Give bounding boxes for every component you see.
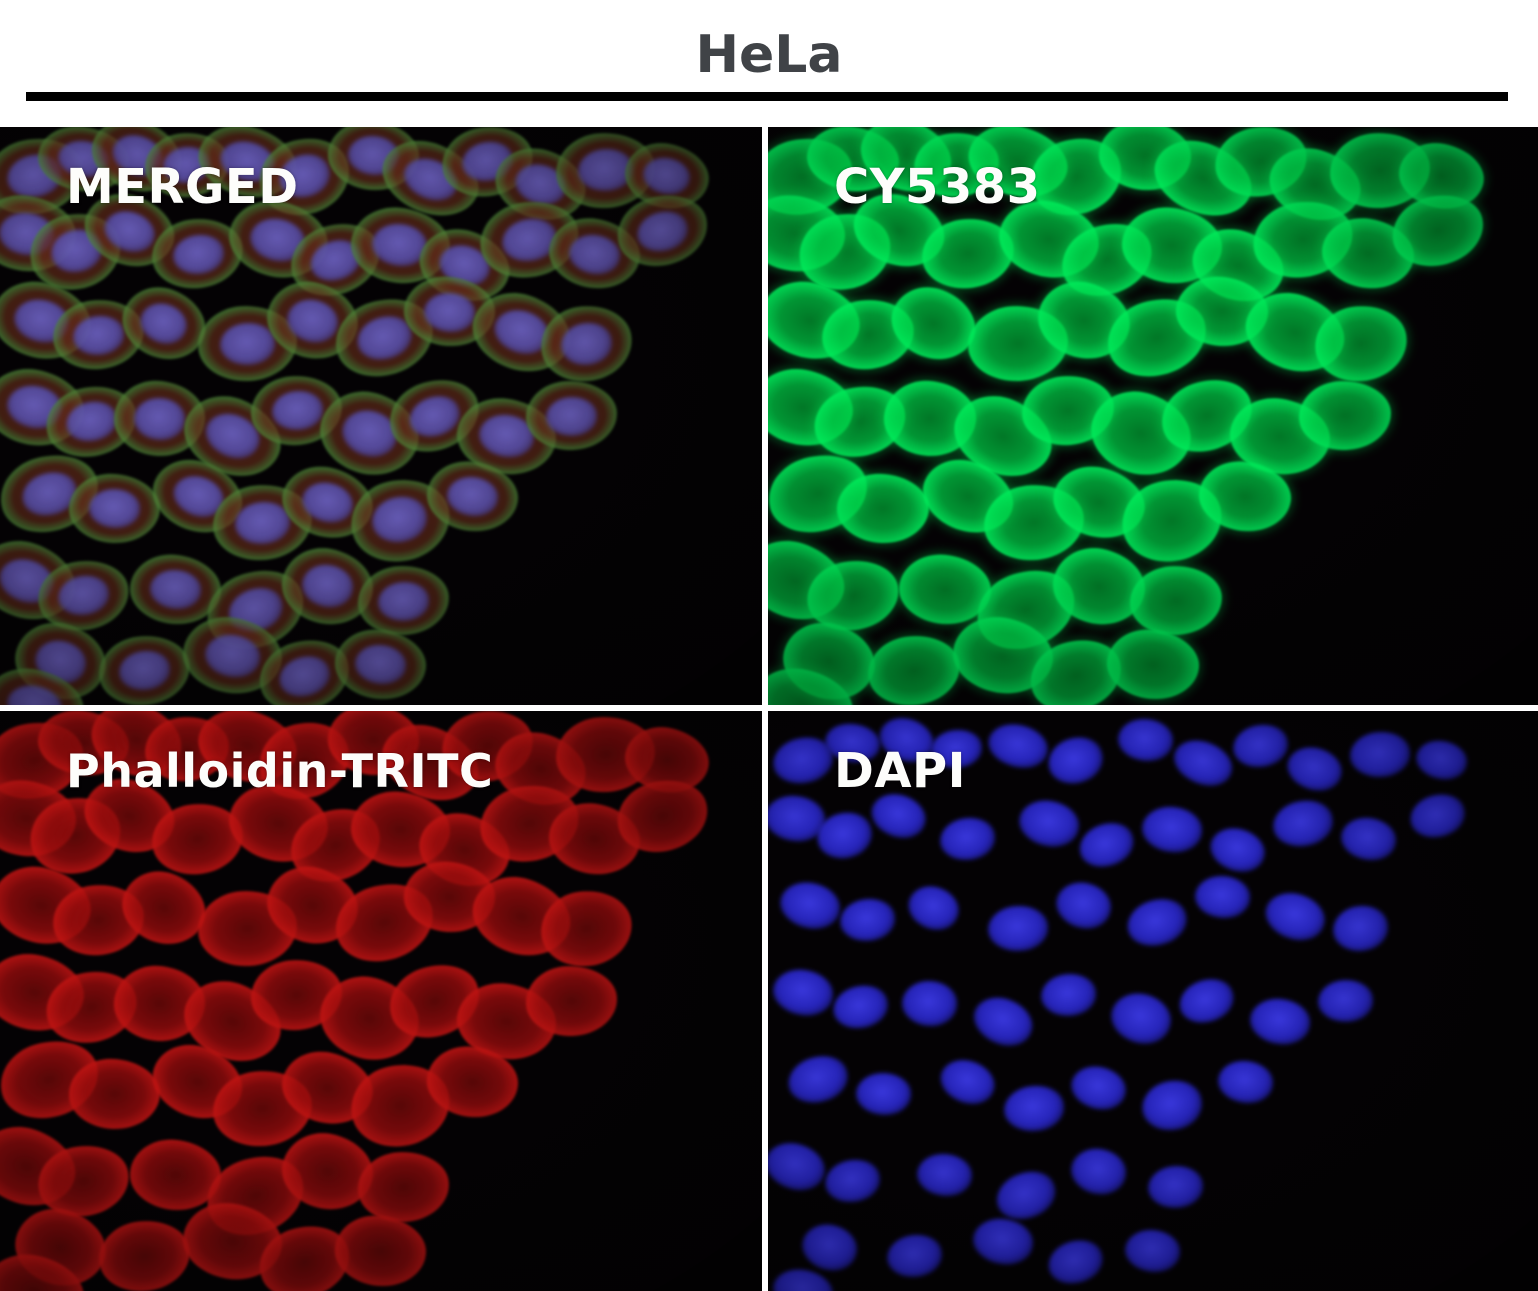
nucleus <box>1067 1061 1131 1115</box>
nucleus <box>1074 815 1140 873</box>
panel-label-merged: MERGED <box>66 161 299 213</box>
nucleus <box>1116 717 1175 763</box>
nucleus <box>916 1152 975 1198</box>
nucleus <box>1230 720 1292 771</box>
cell <box>95 1215 195 1291</box>
cell <box>332 1211 430 1290</box>
nucleus <box>987 904 1049 952</box>
nucleus <box>1043 1234 1108 1290</box>
nucleus <box>1269 796 1337 852</box>
page-title: HeLa <box>0 27 1538 83</box>
panel-label-cy5383: CY5383 <box>834 161 1041 213</box>
nucleus <box>545 396 598 437</box>
nucleus <box>1051 876 1116 934</box>
immunofluorescence-figure: HeLa MERGED CY5383 Phalloidin-TRITC DAPI <box>0 0 1538 1291</box>
nucleus <box>855 1072 912 1116</box>
panel-merged[interactable]: MERGED <box>0 127 762 705</box>
nucleus <box>838 896 898 944</box>
nucleus <box>1043 730 1110 790</box>
panel-label-phalloidin-tritc: Phalloidin-TRITC <box>66 745 493 797</box>
nucleus <box>1406 788 1470 843</box>
cell <box>1298 380 1393 453</box>
panel-cy5383[interactable]: CY5383 <box>768 127 1538 705</box>
cell <box>67 1057 161 1130</box>
nucleus <box>1413 737 1470 784</box>
nucleus <box>1147 1164 1205 1210</box>
nucleus <box>1338 814 1399 864</box>
nucleus <box>1138 1075 1207 1135</box>
nucleus <box>829 980 892 1033</box>
cell <box>1103 625 1202 704</box>
phalloidin-cell-layer <box>0 711 762 1291</box>
nucleus <box>1167 733 1238 794</box>
nucleus <box>938 814 999 863</box>
nucleus <box>1349 730 1412 779</box>
title-divider-rule <box>26 92 1508 101</box>
nucleus <box>1215 1058 1275 1106</box>
nucleus <box>783 1049 853 1109</box>
nucleus <box>884 1232 945 1281</box>
nucleus <box>1330 902 1392 955</box>
nucleus <box>776 876 845 934</box>
nucleus <box>797 1218 862 1276</box>
nucleus <box>1140 804 1204 855</box>
panel-dapi[interactable]: DAPI <box>768 711 1538 1291</box>
nucleus <box>769 965 836 1020</box>
panel-grid: MERGED CY5383 Phalloidin-TRITC DAPI <box>0 127 1538 1291</box>
nucleus <box>1205 822 1270 878</box>
nucleus <box>901 980 959 1028</box>
nucleus <box>1039 972 1098 1018</box>
nucleus <box>1001 1083 1065 1134</box>
nucleus <box>1260 886 1331 948</box>
cell <box>836 472 931 545</box>
nucleus <box>1247 995 1313 1048</box>
cell <box>525 965 619 1038</box>
nucleus <box>1122 892 1193 953</box>
panel-label-dapi: DAPI <box>834 745 966 797</box>
nucleus <box>902 880 964 937</box>
nucleus <box>1106 987 1177 1050</box>
nucleus <box>970 1215 1036 1269</box>
nucleus <box>935 1053 1001 1111</box>
nucleus <box>822 1155 884 1206</box>
nucleus <box>1317 979 1374 1023</box>
nucleus <box>1193 874 1251 920</box>
figure-header: HeLa <box>0 0 1538 127</box>
nucleus <box>768 1136 830 1198</box>
nucleus <box>1123 1227 1182 1274</box>
cell <box>864 630 965 705</box>
nucleus <box>1015 796 1083 853</box>
panel-phalloidin-tritc[interactable]: Phalloidin-TRITC <box>0 711 762 1291</box>
cell <box>1128 563 1225 639</box>
nucleus <box>1068 1145 1131 1200</box>
nucleus <box>966 989 1039 1054</box>
nucleus <box>984 718 1052 773</box>
nucleus <box>1174 972 1240 1030</box>
nucleus <box>1282 741 1347 796</box>
